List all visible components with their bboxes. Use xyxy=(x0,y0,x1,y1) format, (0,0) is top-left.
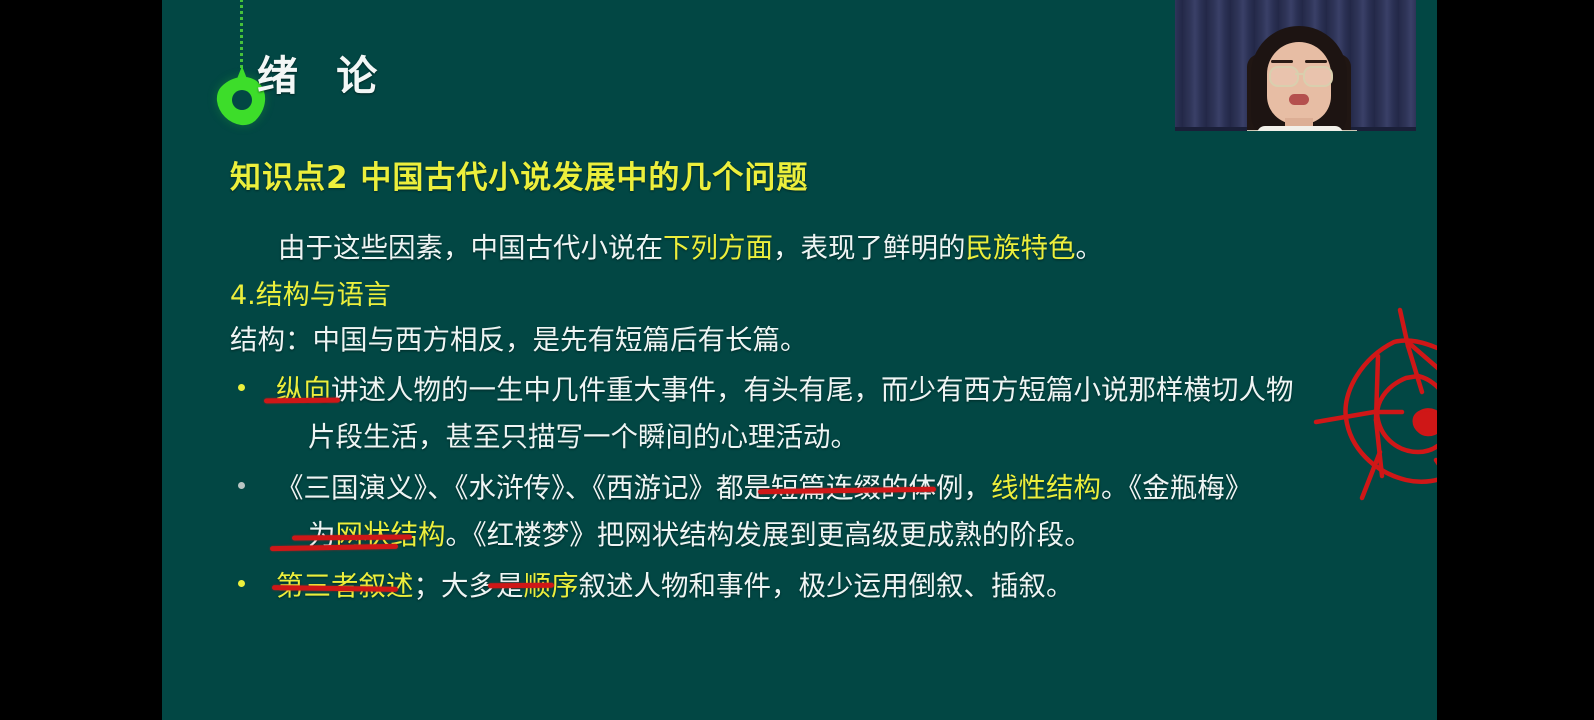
letterbox-bar-right xyxy=(1437,0,1594,720)
list-item: 纵向讲述人物的一生中几件重大事件，有头有尾，而少有西方短篇小说那样横切人物 片段… xyxy=(230,367,1360,461)
red-underline-zongxiang xyxy=(264,398,340,404)
bullet-2-pre: 《三国演义》、《水浒传》、《西游记》都是 xyxy=(276,472,771,504)
bullet-2-mid: ， xyxy=(964,472,992,504)
center-blob xyxy=(1414,410,1437,435)
eyeglass-bridge xyxy=(1295,73,1303,75)
intro-line: 由于这些因素，中国古代小说在下列方面，表现了鲜明的民族特色。 xyxy=(230,226,1360,271)
red-web-diagram-annotation xyxy=(1302,300,1437,520)
red-underline-wangzhuangjiegou xyxy=(292,534,412,540)
video-frame-bottom-mask xyxy=(1159,131,1416,143)
presenter-video-feed[interactable] xyxy=(1159,0,1416,143)
section-heading: 知识点2 中国古代小说发展中的几个问题 xyxy=(230,152,808,197)
bullet-1-line-1: 纵向讲述人物的一生中几件重大事件，有头有尾，而少有西方短篇小说那样横切人物 xyxy=(276,367,1360,414)
eyebrow-right xyxy=(1305,60,1327,63)
eyeglass-left xyxy=(1269,66,1299,87)
bullet-2-highlight: 线性结构 xyxy=(991,472,1101,504)
bullet-2-line-2: 为网状结构。《红楼梦》把网状结构发展到更高级更成熟的阶段。 xyxy=(276,512,1360,559)
red-underline-shunxu xyxy=(488,583,554,588)
eyebrow-left xyxy=(1271,60,1293,63)
bullet-dot-icon xyxy=(238,384,245,391)
structure-line: 结构：中国与西方相反，是先有短篇后有长篇。 xyxy=(230,318,1360,363)
bullet-3-line-1: 第三者叙述；大多是顺序叙述人物和事件，极少运用倒叙、插叙。 xyxy=(276,563,1360,610)
letterbox-bar-left xyxy=(0,0,162,720)
bullet-dot-icon xyxy=(238,580,245,587)
intro-suffix: 。 xyxy=(1076,232,1104,264)
slide-body: 由于这些因素，中国古代小说在下列方面，表现了鲜明的民族特色。 4.结构与语言 结… xyxy=(230,226,1360,610)
intro-prefix: 由于这些因素，中国古代小说在 xyxy=(278,232,663,264)
intro-highlight-2: 民族特色 xyxy=(966,232,1076,264)
screen-root: 绪 论 知识点2 中国古代小说发展中的几个问题 由于这些因素，中国古代小说在下列… xyxy=(0,0,1594,720)
bullet-1-text: 讲述人物的一生中几件重大事件，有头有尾，而少有西方短篇小说那样横切人物 xyxy=(331,374,1294,406)
video-frame-left-mask xyxy=(1159,0,1175,143)
list-item: 第三者叙述；大多是顺序叙述人物和事件，极少运用倒叙、插叙。 xyxy=(230,563,1360,610)
lips xyxy=(1289,94,1309,105)
bullet-2-post: 。《金瓶梅》 xyxy=(1101,472,1252,504)
subsection-heading: 4.结构与语言 xyxy=(230,273,1360,318)
eyeglass-right xyxy=(1303,66,1333,87)
page-title: 绪 论 xyxy=(257,42,389,102)
bullet-dot-icon xyxy=(238,482,245,489)
list-item: 《三国演义》、《水浒传》、《西游记》都是短篇连缀的体例，线性结构。《金瓶梅》 为… xyxy=(230,465,1360,559)
bullet-3-text: 叙述人物和事件，极少运用倒叙、插叙。 xyxy=(579,570,1074,602)
bullet-1-line-2: 片段生活，甚至只描写一个瞬间的心理活动。 xyxy=(276,414,1360,461)
intro-highlight-1: 下列方面 xyxy=(663,232,773,264)
intro-middle: ，表现了鲜明的 xyxy=(773,232,966,264)
bullet-2-l2-post: 。《红楼梦》把网状结构发展到更高级更成熟的阶段。 xyxy=(446,519,1092,551)
